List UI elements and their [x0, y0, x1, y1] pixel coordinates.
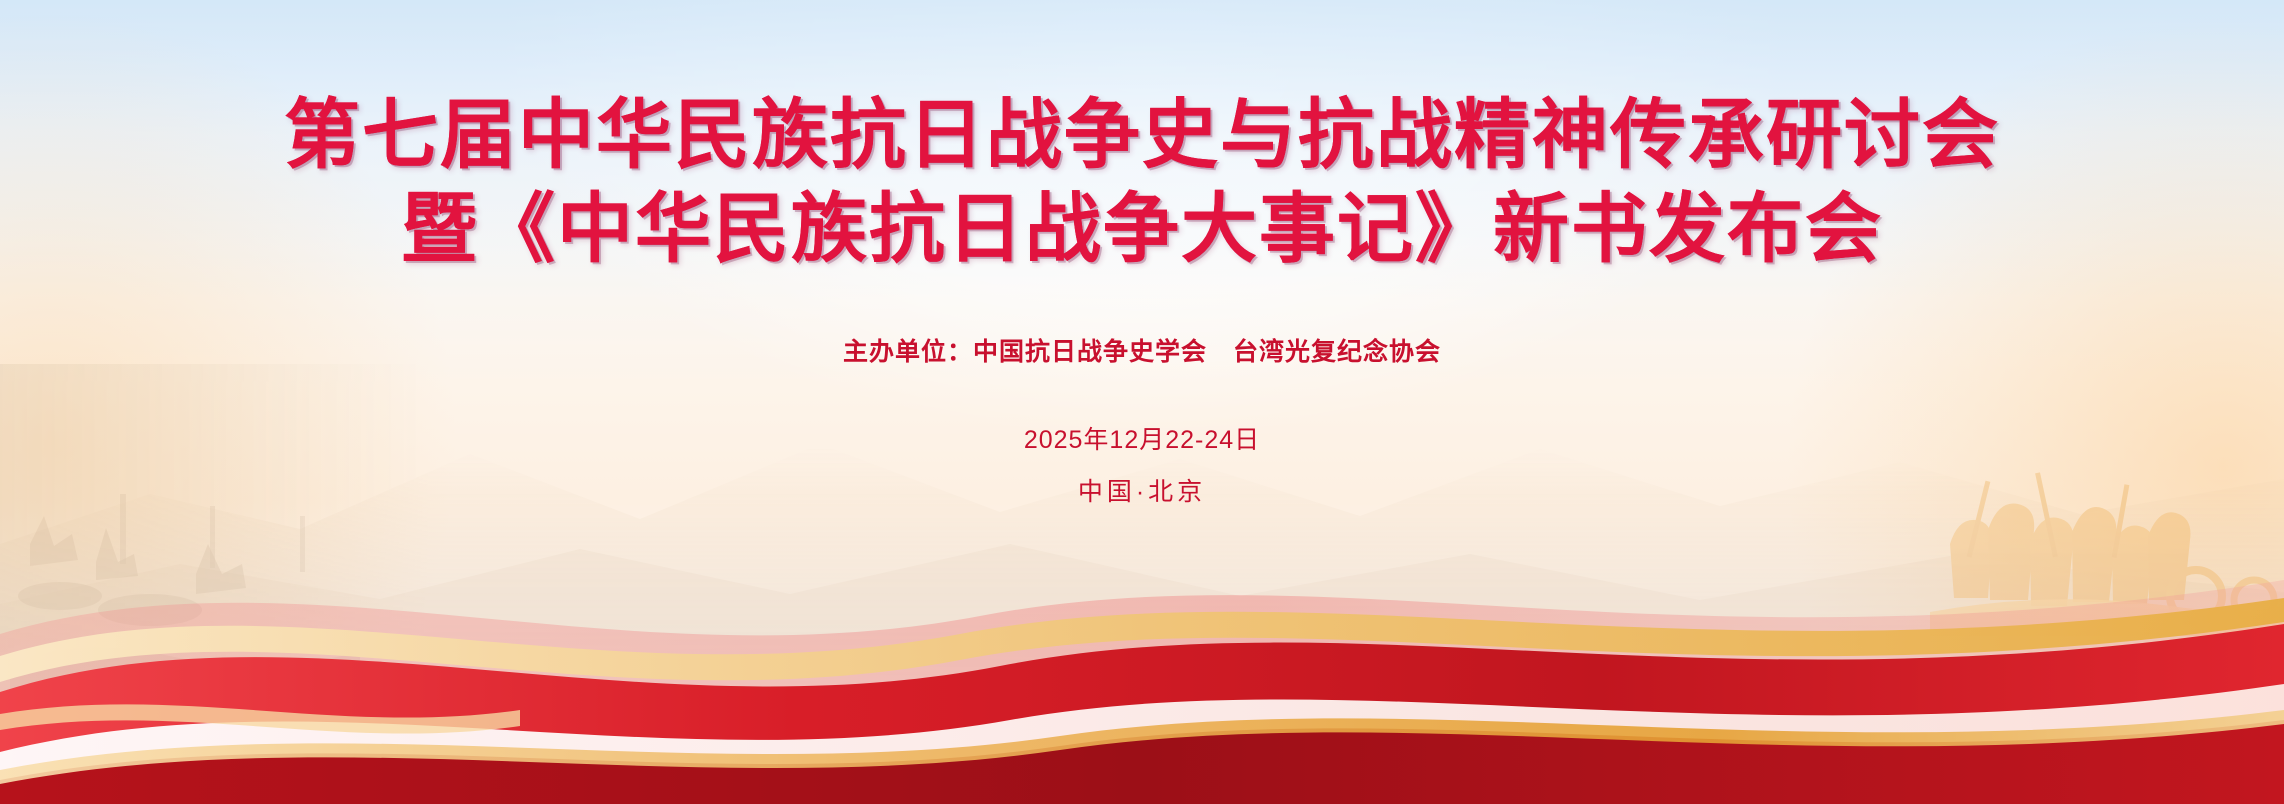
banner-content: 第七届中华民族抗日战争史与抗战精神传承研讨会 暨《中华民族抗日战争大事记》新书发…	[0, 0, 2284, 508]
banner-title-line-2: 暨《中华民族抗日战争大事记》新书发布会	[0, 186, 2284, 274]
conference-banner: 第七届中华民族抗日战争史与抗战精神传承研讨会 暨《中华民族抗日战争大事记》新书发…	[0, 0, 2284, 804]
banner-title-line-1: 第七届中华民族抗日战争史与抗战精神传承研讨会	[0, 92, 2284, 180]
event-location: 中国·北京	[0, 472, 2284, 508]
organizer-line: 主办单位：中国抗日战争史学会 台湾光复纪念协会	[0, 332, 2284, 368]
event-date: 2025年12月22-24日	[0, 420, 2284, 456]
historic-figures-photo-right	[1900, 472, 2284, 804]
